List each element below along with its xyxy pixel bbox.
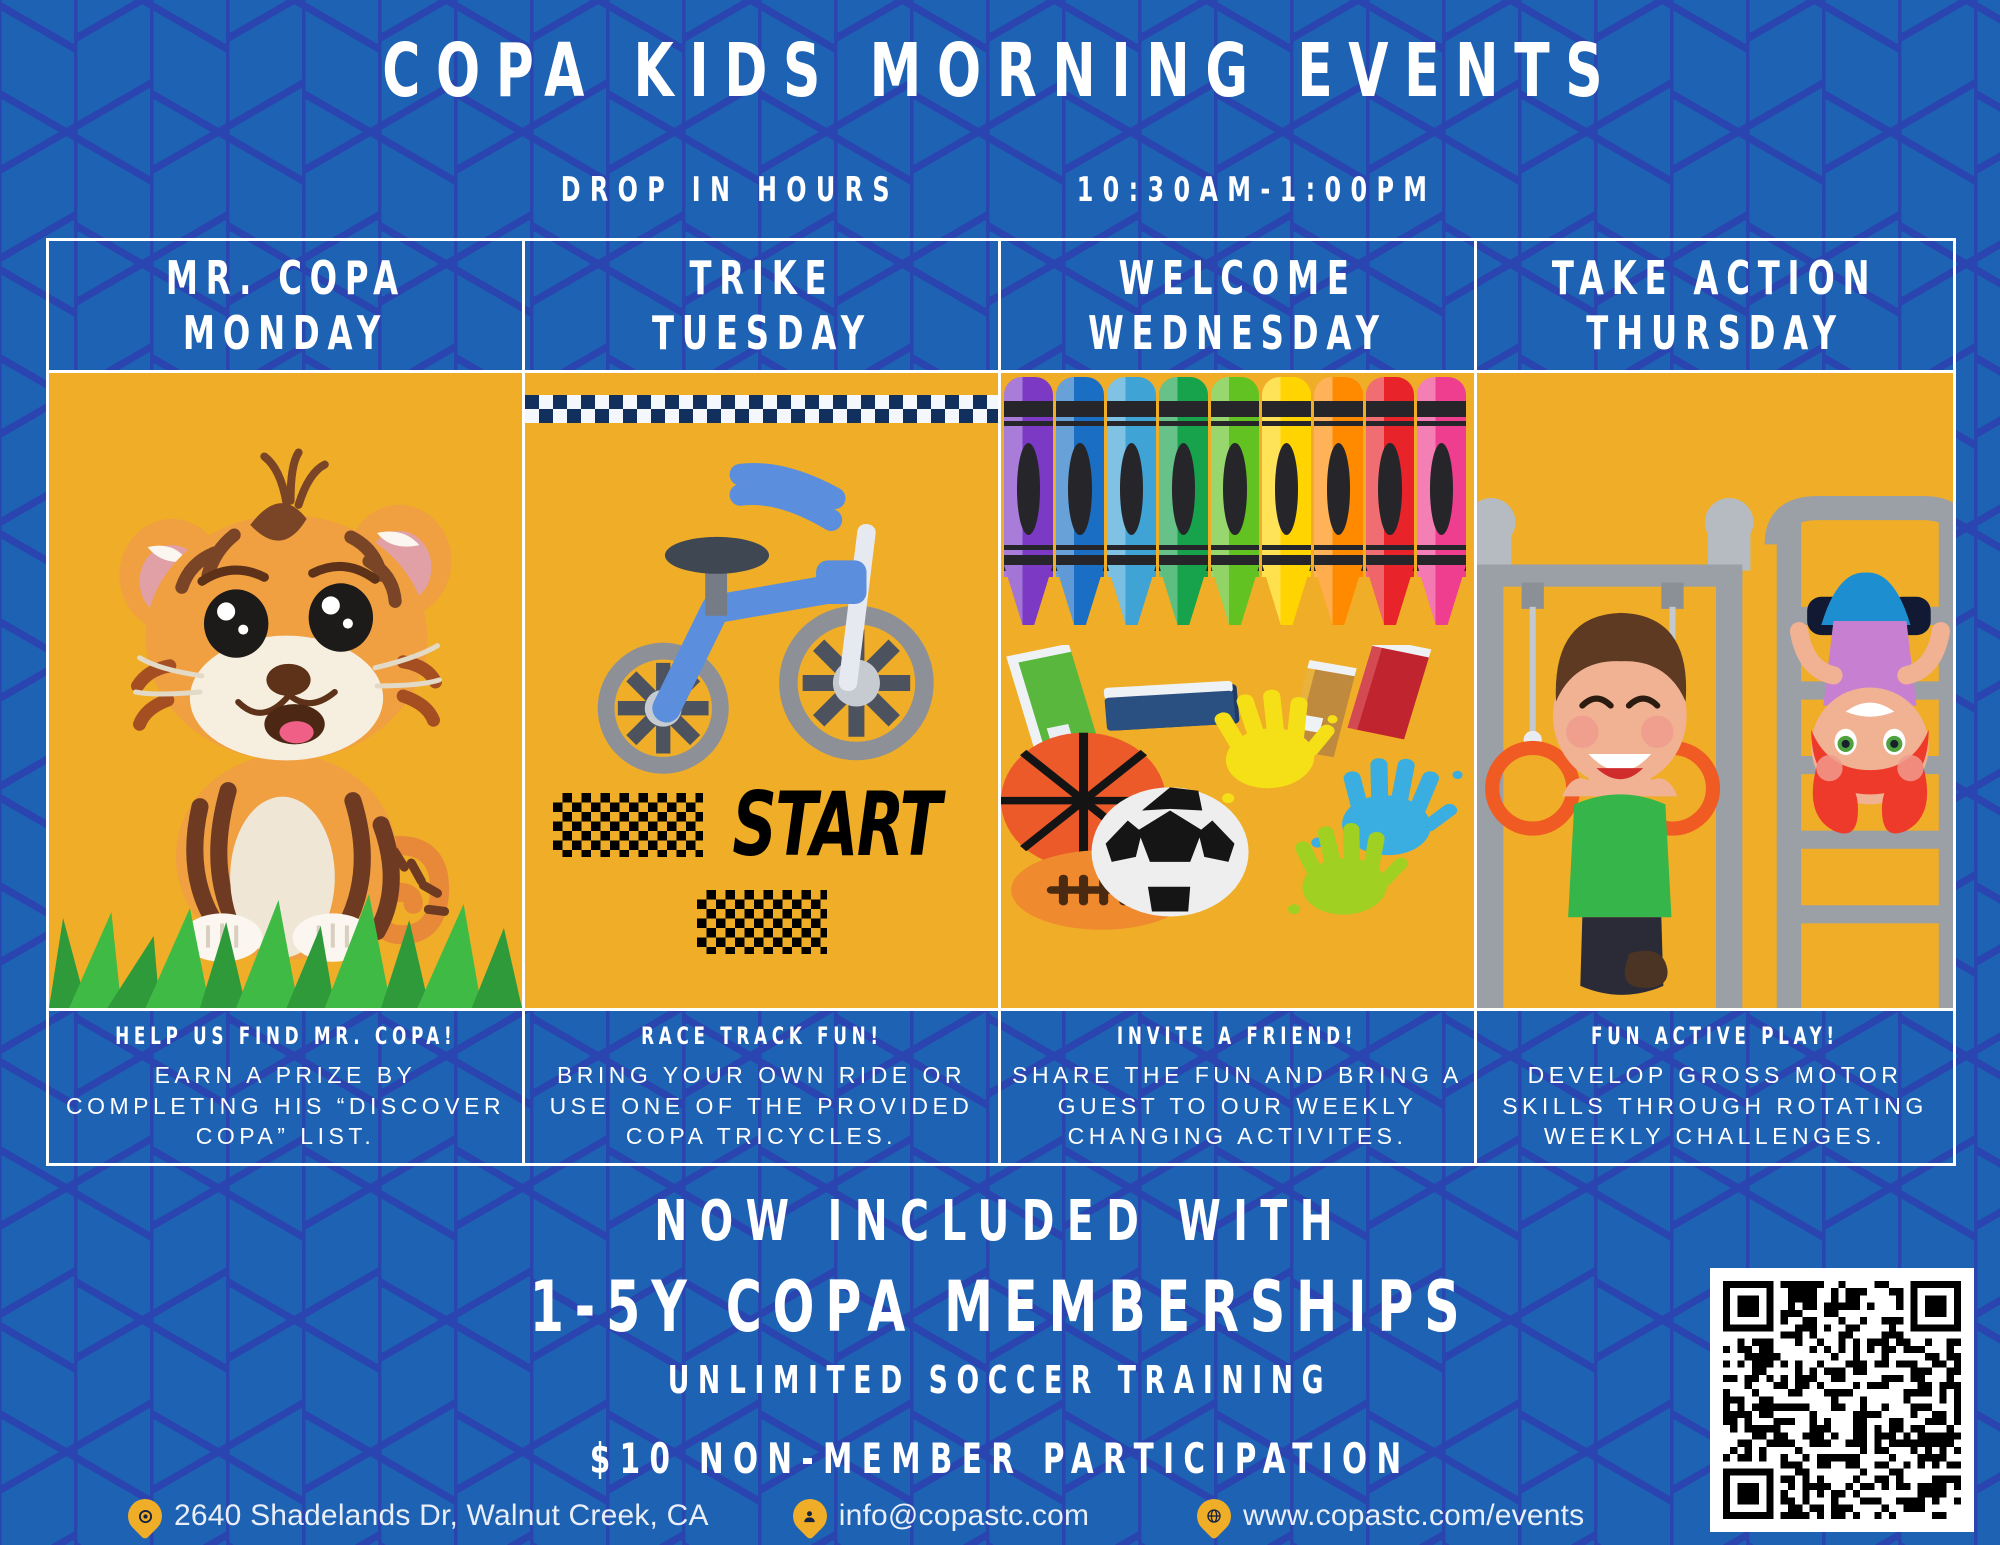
day-column-thursday[interactable]: TAKE ACTION THURSDAY — [1477, 241, 1953, 1163]
crayon — [1004, 377, 1053, 637]
monday-title-line2: MONDAY — [183, 306, 388, 360]
wednesday-title-line2: WEDNESDAY — [1088, 306, 1387, 360]
thursday-title-line1: TAKE ACTION — [1552, 251, 1877, 305]
caption-thursday: FUN ACTIVE PLAY! DEVELOP GROSS MOTOR SKI… — [1477, 1011, 1953, 1163]
day-header-thursday: TAKE ACTION THURSDAY — [1477, 241, 1953, 373]
crayon — [1417, 377, 1466, 637]
page-title: COPA KIDS MORNING EVENTS — [0, 34, 2000, 108]
caption-monday: HELP US FIND MR. COPA! EARN A PRIZE BY C… — [49, 1011, 522, 1163]
crayon — [1107, 377, 1156, 637]
crayon-row — [1004, 377, 1466, 637]
caption-wednesday: INVITE A FRIEND! SHARE THE FUN AND BRING… — [1001, 1011, 1474, 1163]
monday-caption-body: EARN A PRIZE BY COMPLETING HIS “DISCOVER… — [55, 1060, 516, 1151]
playground-illustration — [1477, 373, 1953, 1011]
promo-line-3: UNLIMITED SOCCER TRAINING — [0, 1358, 2000, 1403]
tuesday-caption-head: RACE TRACK FUN! — [641, 1022, 883, 1050]
promo-line-4-text: $10 NON-MEMBER PARTICIPATION — [590, 1434, 1411, 1483]
drop-in-hours-label: DROP IN HOURS — [561, 170, 899, 210]
qr-code[interactable] — [1710, 1268, 1974, 1532]
day-column-monday[interactable]: MR. COPA MONDAY — [49, 241, 525, 1163]
thursday-title-line2: THURSDAY — [1586, 306, 1843, 360]
start-banner: START — [525, 773, 998, 956]
weekly-schedule-grid: MR. COPA MONDAY — [46, 238, 1956, 1166]
start-banner-text: START — [733, 773, 941, 876]
tiger-cub-illustration — [49, 373, 522, 1011]
promo-line-2: 1-5Y COPA MEMBERSHIPS — [0, 1266, 2000, 1348]
tuesday-title-line1: TRIKE — [689, 251, 834, 305]
tuesday-caption-body: BRING YOUR OWN RIDE OR USE ONE OF THE PR… — [531, 1060, 992, 1151]
tuesday-title-line2: TUESDAY — [652, 306, 872, 360]
contact-website[interactable]: www.copastc.com/events — [1197, 1499, 1584, 1533]
crayon — [1159, 377, 1208, 637]
contact-email[interactable]: info@copastc.com — [793, 1499, 1089, 1533]
drop-in-hours: DROP IN HOURS 10:30AM-1:00PM — [0, 170, 2000, 210]
location-pin-icon — [128, 1499, 162, 1533]
day-column-wednesday[interactable]: WELCOME WEDNESDAY — [1001, 241, 1477, 1163]
contact-email-text: info@copastc.com — [839, 1499, 1089, 1533]
promo-line-1: NOW INCLUDED WITH — [0, 1188, 2000, 1254]
crayon — [1366, 377, 1415, 637]
monday-caption-head: HELP US FIND MR. COPA! — [115, 1022, 456, 1050]
caption-tuesday: RACE TRACK FUN! BRING YOUR OWN RIDE OR U… — [525, 1011, 998, 1163]
qr-code-canvas — [1723, 1281, 1961, 1519]
thursday-caption-head: FUN ACTIVE PLAY! — [1591, 1022, 1839, 1050]
day-column-tuesday[interactable]: TRIKE TUESDAY — [525, 241, 1001, 1163]
day-header-tuesday: TRIKE TUESDAY — [525, 241, 998, 373]
contact-address-text: 2640 Shadelands Dr, Walnut Creek, CA — [174, 1499, 709, 1533]
crayon — [1211, 377, 1260, 637]
drop-in-hours-value: 10:30AM-1:00PM — [1076, 170, 1436, 210]
wednesday-title-line1: WELCOME — [1118, 251, 1356, 305]
promo-line-4: $10 NON-MEMBER PARTICIPATION — [0, 1434, 2000, 1483]
globe-icon — [1197, 1499, 1231, 1533]
day-header-monday: MR. COPA MONDAY — [49, 241, 522, 373]
contact-address[interactable]: 2640 Shadelands Dr, Walnut Creek, CA — [128, 1499, 709, 1533]
wednesday-caption-body: SHARE THE FUN AND BRING A GUEST TO OUR W… — [1007, 1060, 1468, 1151]
day-header-wednesday: WELCOME WEDNESDAY — [1001, 241, 1474, 373]
promo-line-1-text: NOW INCLUDED WITH — [655, 1189, 1346, 1254]
footer-contact-row: 2640 Shadelands Dr, Walnut Creek, CA inf… — [0, 1491, 1700, 1541]
thursday-caption-body: DEVELOP GROSS MOTOR SKILLS THROUGH ROTAT… — [1483, 1060, 1947, 1151]
promo-line-3-text: UNLIMITED SOCCER TRAINING — [668, 1358, 1332, 1402]
checkered-flag-banner — [525, 395, 998, 423]
page-title-text: COPA KIDS MORNING EVENTS — [382, 34, 1618, 108]
contact-website-text: www.copastc.com/events — [1243, 1499, 1584, 1533]
wednesday-caption-head: INVITE A FRIEND! — [1117, 1022, 1357, 1050]
activities-illustration — [1001, 373, 1474, 1011]
crayon — [1056, 377, 1105, 637]
crayon — [1262, 377, 1311, 637]
promo-line-2-text: 1-5Y COPA MEMBERSHIPS — [530, 1266, 1471, 1348]
tricycle-illustration: START — [525, 373, 998, 1011]
person-contact-icon — [793, 1499, 827, 1533]
grass-illustration — [49, 878, 522, 1008]
crayon — [1314, 377, 1363, 637]
monday-title-line1: MR. COPA — [165, 251, 405, 305]
